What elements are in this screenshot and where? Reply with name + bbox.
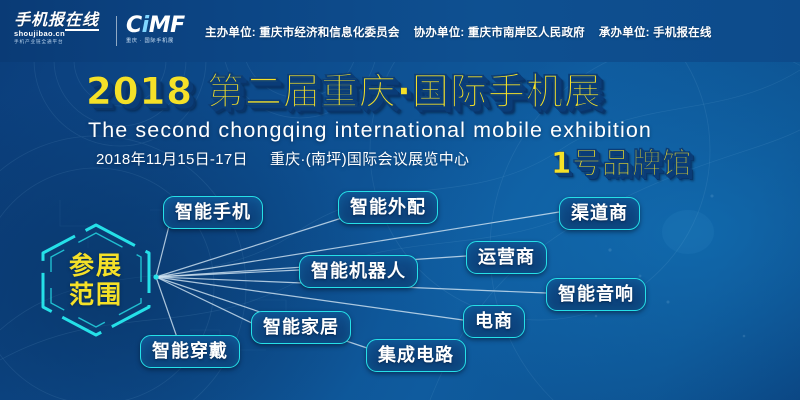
cimf-letter-c: C bbox=[126, 13, 142, 38]
shoujibao-logo[interactable]: 手机报在线 shoujibao.cn 手机产业链全通平台 bbox=[14, 12, 110, 52]
organizer-host: 主办单位: 重庆市经济和信息化委员会 bbox=[205, 24, 400, 40]
header-bar: 手机报在线 shoujibao.cn 手机产业链全通平台 CiMF 重庆 · 国… bbox=[0, 0, 800, 62]
cimf-logo-subtitle: 重庆 · 国际手机展 bbox=[126, 37, 190, 45]
category-node-label: 集成电路 bbox=[378, 345, 454, 365]
shoujibao-logo-tagline: 手机产业链全通平台 bbox=[14, 38, 110, 45]
category-node-label: 运营商 bbox=[478, 247, 535, 267]
category-node-label: 电商 bbox=[475, 311, 513, 331]
category-node-smart-wearable[interactable]: 智能穿戴 bbox=[140, 335, 240, 368]
category-node-label: 智能手机 bbox=[175, 202, 251, 222]
organizer-undertaker: 承办单位: 手机报在线 bbox=[599, 24, 712, 40]
organizer-coorganizer: 协办单位: 重庆市南岸区人民政府 bbox=[414, 24, 585, 40]
cimf-letter-i: i bbox=[142, 13, 149, 38]
shoujibao-logo-cn: 手机报在线 bbox=[14, 12, 110, 29]
date-venue-line: 2018年11月15日-17日重庆·(南坪)国际会议展览中心 bbox=[96, 148, 469, 169]
category-node-smart-speaker[interactable]: 智能音响 bbox=[546, 278, 646, 311]
cimf-letters-mf: MF bbox=[149, 13, 185, 38]
category-node-integrated-ic[interactable]: 集成电路 bbox=[366, 339, 466, 372]
category-node-smartphone[interactable]: 智能手机 bbox=[163, 196, 263, 229]
hub-label: 参展 范围 bbox=[38, 222, 154, 338]
main-title: 2018 第二届重庆·国际手机展 bbox=[86, 70, 602, 114]
event-venue: 重庆·(南坪)国际会议展览中心 bbox=[270, 151, 470, 168]
category-node-smart-home[interactable]: 智能家居 bbox=[251, 311, 351, 344]
cimf-logo[interactable]: CiMF 重庆 · 国际手机展 bbox=[126, 14, 190, 52]
category-node-label: 智能家居 bbox=[263, 317, 339, 337]
hub-label-line1: 参展 bbox=[69, 251, 123, 280]
connector-line-smartphone bbox=[156, 222, 170, 277]
scope-diagram: 参展 范围 智能手机智能外配渠道商运营商智能机器人智能音响电商智能家居集成电路智… bbox=[0, 180, 800, 400]
category-node-operator[interactable]: 运营商 bbox=[466, 241, 547, 274]
category-node-label: 智能穿戴 bbox=[152, 341, 228, 361]
category-node-smart-accessory[interactable]: 智能外配 bbox=[338, 191, 438, 224]
hub-label-line2: 范围 bbox=[69, 280, 123, 309]
category-node-channel-dealer[interactable]: 渠道商 bbox=[559, 197, 640, 230]
cimf-wordmark: CiMF bbox=[126, 14, 190, 37]
hub-connector-dot bbox=[153, 274, 158, 279]
category-node-label: 智能机器人 bbox=[311, 261, 406, 281]
category-node-label: 智能外配 bbox=[350, 197, 426, 217]
hall-badge: 1号品牌馆 bbox=[551, 140, 692, 182]
hub-hexagon: 参展 范围 bbox=[38, 222, 154, 338]
event-date: 2018年11月15日-17日 bbox=[96, 151, 248, 168]
organizer-line: 主办单位: 重庆市经济和信息化委员会 协办单位: 重庆市南岸区人民政府 承办单位… bbox=[205, 22, 795, 42]
category-node-smart-robot[interactable]: 智能机器人 bbox=[299, 255, 418, 288]
poster-canvas: 手机报在线 shoujibao.cn 手机产业链全通平台 CiMF 重庆 · 国… bbox=[0, 0, 800, 400]
category-node-ecommerce[interactable]: 电商 bbox=[463, 305, 525, 338]
category-node-label: 渠道商 bbox=[571, 203, 628, 223]
category-node-label: 智能音响 bbox=[558, 284, 634, 304]
logo-divider bbox=[116, 16, 117, 46]
